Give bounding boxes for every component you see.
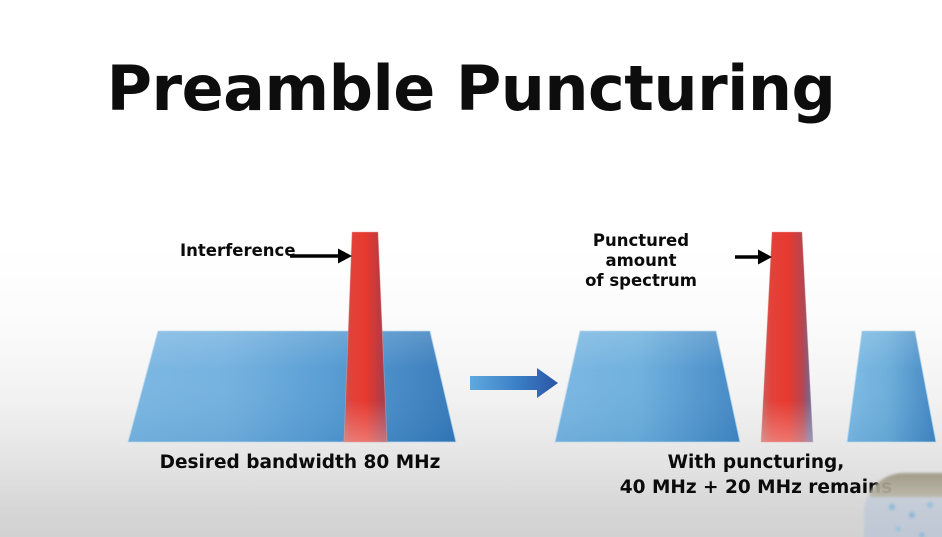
left-caption: Desired bandwidth 80 MHz [110,451,490,476]
right-caption: With puncturing, 40 MHz + 20 MHz remains [608,451,904,501]
punctured-amount-label-line1: Punctured amount [556,231,726,271]
right-caption-line1: With puncturing, [608,451,904,476]
punctured-amount-label-line2: of spectrum [556,271,726,291]
remaining-block-40mhz [555,331,740,442]
overlay-band [870,473,942,497]
punctured-arrow-icon [735,250,772,265]
desired-bandwidth-block [128,331,456,442]
overlay-pattern [882,499,942,537]
interference-label: Interference [180,241,296,261]
remaining-block-20mhz [847,331,936,442]
interference-spike [344,232,387,442]
transition-arrow-icon [470,368,558,398]
video-overlay-thumbnail [864,473,942,537]
interference-arrow-icon [290,249,352,264]
punctured-amount-label: Punctured amount of spectrum [556,231,726,291]
slide-canvas: Preamble Puncturing [0,0,942,537]
right-caption-line2: 40 MHz + 20 MHz remains [608,476,904,501]
punctured-spectrum-spike [761,232,813,442]
